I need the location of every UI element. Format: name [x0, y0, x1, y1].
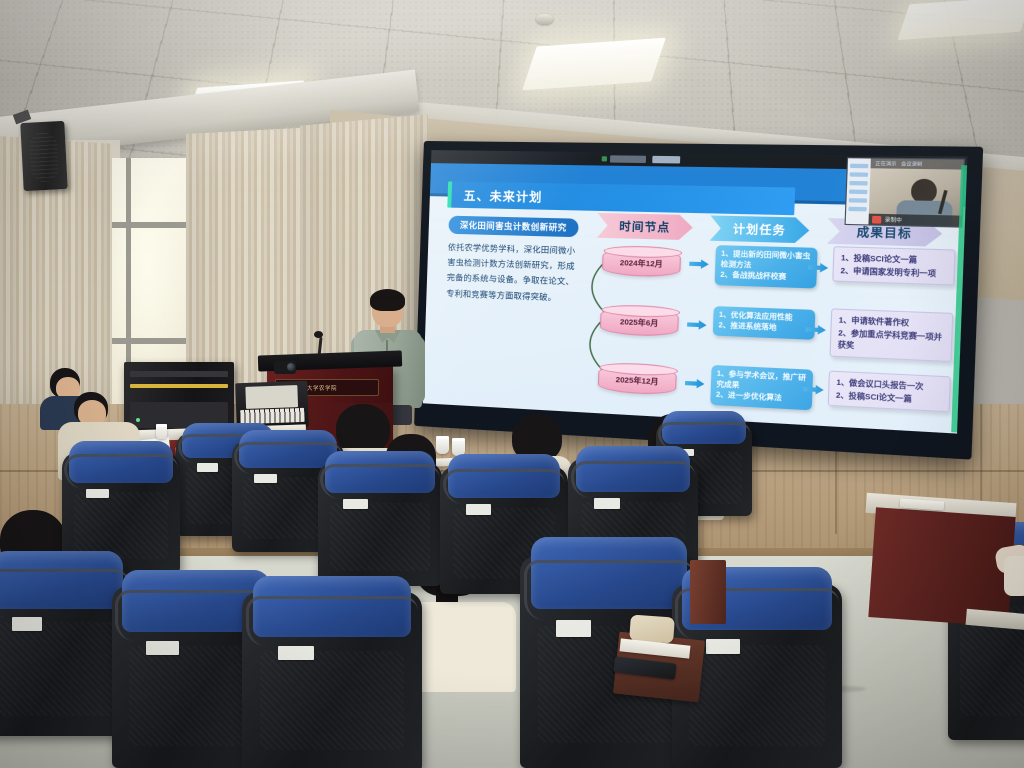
arrow-right-icon [685, 378, 705, 388]
timeline-node: 2025年6月 [600, 307, 679, 337]
auditorium-seat[interactable] [318, 462, 442, 586]
arrow-right-icon [689, 259, 709, 269]
video-call-pip[interactable]: 正在演示 会议录制 录制中 [844, 157, 965, 228]
control-console[interactable] [235, 381, 309, 429]
paper-cup [452, 438, 465, 456]
task-box: 1、参与学术会议，推广研究成果 2、进一步优化算法 [710, 365, 813, 411]
slide-section-title: 五、未来计划 [447, 181, 795, 215]
column-header-tasks: 计划任务 [710, 215, 810, 243]
lecture-hall-photo: 长江大学 五、未来计划 深化田间害虫计数创新研究 依托农学优势学科，深化田间微小… [0, 0, 1024, 768]
pip-top-labels: 正在演示 会议录制 [871, 159, 964, 170]
slide-left-body: 依托农学优势学科，深化田间微小害虫检测计数方法创新研究，形成完备的系统与设备。争… [446, 240, 582, 306]
presenter-hair [370, 289, 405, 311]
seat-armrest [690, 560, 726, 624]
arrow-right-icon [687, 320, 707, 330]
goal-line: 2、申请国家发明专利一项 [840, 264, 946, 280]
slide-left-banner: 深化田间害虫计数创新研究 [448, 216, 578, 238]
pip-status-bar: 录制中 [868, 214, 961, 227]
display-panel: 长江大学 五、未来计划 深化田间害虫计数创新研究 依托农学优势学科，深化田间微小… [423, 150, 968, 434]
pip-record-label: 录制中 [885, 216, 903, 224]
task-box: 1、提出新的田间微小害虫检测方法 2、备战挑战杯校赛 [715, 245, 818, 289]
camera-icon [274, 361, 296, 374]
status-led-icon [136, 418, 140, 422]
timeline-node: 2025年12月 [598, 365, 677, 396]
record-icon [872, 215, 881, 223]
pip-person-head [911, 179, 938, 203]
task-line: 2、推进系统落地 [718, 321, 809, 335]
wall-speaker-icon [20, 121, 67, 191]
goal-box: 1、投稿SCI论文一篇 2、申请国家发明专利一项 [832, 246, 955, 285]
goal-box: 1、申请软件著作权 2、参加重点学科竞赛一项并获奖 [829, 308, 953, 361]
console-keyboard[interactable] [240, 408, 304, 424]
pip-label: 会议录制 [901, 161, 923, 168]
task-line: 2、备战挑战杯校赛 [720, 271, 811, 285]
pip-label: 正在演示 [875, 160, 896, 167]
paper-cup [156, 424, 167, 439]
microphone-head-icon [314, 331, 323, 338]
auditorium-seat[interactable] [242, 592, 422, 768]
goal-box: 1、做会议口头报告一次 2、投稿SCI论文一篇 [828, 371, 951, 413]
goal-line: 2、参加重点学科竞赛一项并获奖 [838, 326, 945, 355]
pip-sidebar [846, 158, 871, 224]
timeline-node: 2024年12月 [602, 248, 681, 277]
side-desk [868, 507, 1015, 626]
smoke-detector-icon [536, 14, 553, 24]
console-monitor [245, 385, 298, 409]
task-box: 1、优化算法应用性能 2、推进系统落地 [713, 306, 816, 340]
task-line: 1、提出新的田间微小害虫检测方法 [720, 249, 811, 273]
attendee-sleeve [1004, 556, 1024, 596]
